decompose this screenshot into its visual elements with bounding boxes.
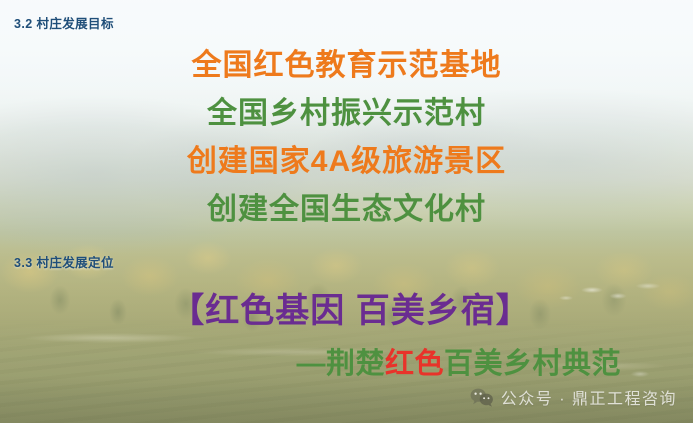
positioning-slogan-block: 【红色基因 百美乡宿】 —荆楚红色百美乡村典范 — [0, 288, 693, 384]
slogan-sub-part-3: 百美乡村典范 — [444, 348, 621, 380]
slide-content: 3.2 村庄发展目标 全国红色教育示范基地 全国乡村振兴示范村 创建国家4A级旅… — [0, 0, 693, 423]
positioning-slogan-subtitle: —荆楚红色百美乡村典范 — [0, 344, 693, 384]
goal-line-4: 创建全国生态文化村 — [0, 186, 693, 234]
watermark: 公众号 · 鼎正工程咨询 — [470, 385, 677, 409]
positioning-slogan-main: 【红色基因 百美乡宿】 — [0, 288, 693, 334]
goal-line-2: 全国乡村振兴示范村 — [0, 90, 693, 138]
section-heading-development-positioning: 3.3 村庄发展定位 — [14, 252, 114, 271]
slogan-sub-part-2-highlight: 红色 — [385, 348, 444, 380]
goal-line-3: 创建国家4A级旅游景区 — [0, 138, 693, 186]
wechat-icon — [470, 388, 494, 407]
development-goals-list: 全国红色教育示范基地 全国乡村振兴示范村 创建国家4A级旅游景区 创建全国生态文… — [0, 42, 693, 234]
slogan-sub-part-1: —荆楚 — [296, 348, 385, 380]
slide-canvas: 3.2 村庄发展目标 全国红色教育示范基地 全国乡村振兴示范村 创建国家4A级旅… — [0, 0, 693, 423]
goal-line-1: 全国红色教育示范基地 — [0, 42, 693, 90]
watermark-text: 公众号 · 鼎正工程咨询 — [501, 385, 677, 409]
section-heading-development-goals: 3.2 村庄发展目标 — [14, 13, 114, 32]
